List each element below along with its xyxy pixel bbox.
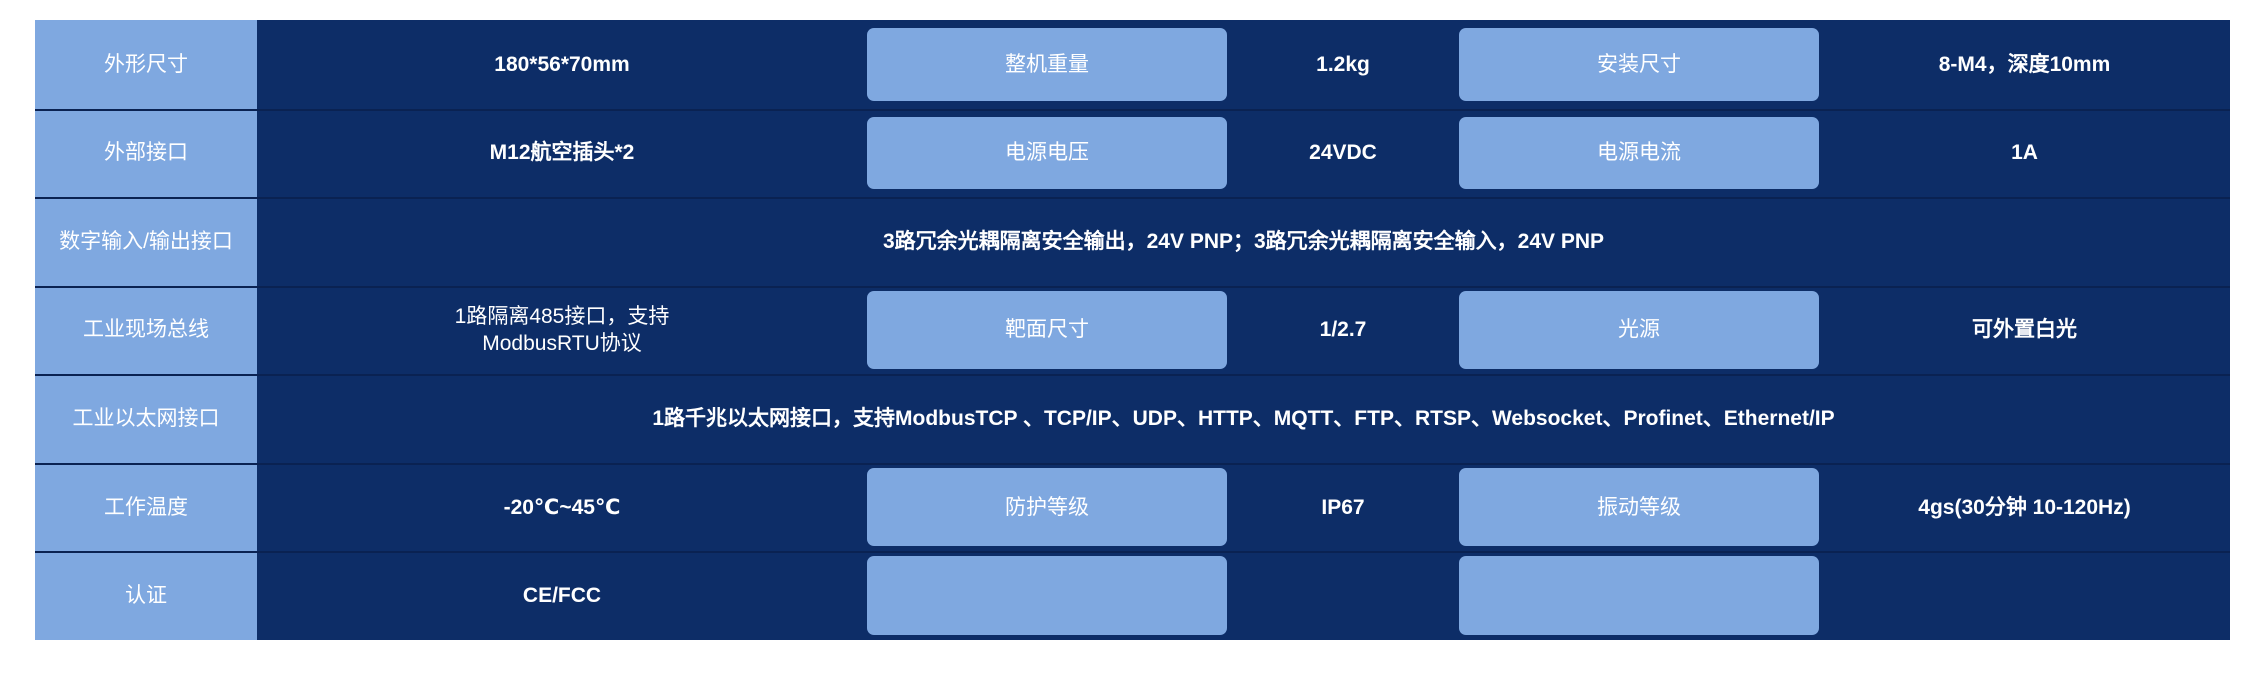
row-value-weight: 1.2kg <box>1227 20 1459 109</box>
row-value-light-source: 可外置白光 <box>1819 286 2230 375</box>
row-label-light-source-text: 光源 <box>1459 291 1819 370</box>
row-label-dimensions: 外形尺寸 <box>35 20 257 109</box>
table-row: 外形尺寸 180*56*70mm 整机重量 1.2kg 安装尺寸 8-M4，深度… <box>35 20 2230 109</box>
row-value-supply-current: 1A <box>1819 109 2230 198</box>
row-label-fieldbus: 工业现场总线 <box>35 286 257 375</box>
table-row: 认证 CE/FCC <box>35 551 2230 640</box>
row-label-empty-1 <box>867 551 1227 640</box>
row-value-empty-1 <box>1227 551 1459 640</box>
row-label-ip-rating: 防护等级 <box>867 463 1227 552</box>
row-value-ip-rating: IP67 <box>1227 463 1459 552</box>
row-label-supply-voltage: 电源电压 <box>867 109 1227 198</box>
row-value-digital-io: 3路冗余光耦隔离安全输出，24V PNP；3路冗余光耦隔离安全输入，24V PN… <box>257 197 2230 286</box>
row-label-mounting: 安装尺寸 <box>1459 20 1819 109</box>
row-label-ip-rating-text: 防护等级 <box>867 468 1227 547</box>
table-row: 工业以太网接口 1路千兆以太网接口，支持ModbusTCP 、TCP/IP、UD… <box>35 374 2230 463</box>
row-label-empty-2-text <box>1459 556 1819 635</box>
row-label-sensor-size: 靶面尺寸 <box>867 286 1227 375</box>
row-value-fieldbus: 1路隔离485接口，支持 ModbusRTU协议 <box>257 286 867 375</box>
row-value-vibration: 4gs(30分钟 10-120Hz) <box>1819 463 2230 552</box>
row-label-mounting-text: 安装尺寸 <box>1459 28 1819 101</box>
row-value-dimensions: 180*56*70mm <box>257 20 867 109</box>
row-label-supply-current-text: 电源电流 <box>1459 117 1819 190</box>
row-value-temperature: -20℃~45℃ <box>257 463 867 552</box>
row-label-empty-1-text <box>867 556 1227 635</box>
table-row: 工业现场总线 1路隔离485接口，支持 ModbusRTU协议 靶面尺寸 1/2… <box>35 286 2230 375</box>
row-value-supply-voltage: 24VDC <box>1227 109 1459 198</box>
row-label-temperature: 工作温度 <box>35 463 257 552</box>
row-label-weight-text: 整机重量 <box>867 28 1227 101</box>
row-label-weight: 整机重量 <box>867 20 1227 109</box>
row-value-certification: CE/FCC <box>257 551 867 640</box>
row-label-supply-voltage-text: 电源电压 <box>867 117 1227 190</box>
row-label-sensor-size-text: 靶面尺寸 <box>867 291 1227 370</box>
table-row: 工作温度 -20℃~45℃ 防护等级 IP67 振动等级 4gs(30分钟 10… <box>35 463 2230 552</box>
row-label-empty-2 <box>1459 551 1819 640</box>
row-label-supply-current: 电源电流 <box>1459 109 1819 198</box>
row-value-sensor-size: 1/2.7 <box>1227 286 1459 375</box>
row-value-empty-2 <box>1819 551 2230 640</box>
row-label-external-interface: 外部接口 <box>35 109 257 198</box>
row-label-ethernet: 工业以太网接口 <box>35 374 257 463</box>
row-value-mounting: 8-M4，深度10mm <box>1819 20 2230 109</box>
row-label-digital-io: 数字输入/输出接口 <box>35 197 257 286</box>
row-value-ethernet: 1路千兆以太网接口，支持ModbusTCP 、TCP/IP、UDP、HTTP、M… <box>257 374 2230 463</box>
table-row: 外部接口 M12航空插头*2 电源电压 24VDC 电源电流 1A <box>35 109 2230 198</box>
row-value-external-interface: M12航空插头*2 <box>257 109 867 198</box>
row-label-vibration-text: 振动等级 <box>1459 468 1819 547</box>
row-label-light-source: 光源 <box>1459 286 1819 375</box>
row-label-vibration: 振动等级 <box>1459 463 1819 552</box>
specification-table: 外形尺寸 180*56*70mm 整机重量 1.2kg 安装尺寸 8-M4，深度… <box>35 20 2230 640</box>
table-row: 数字输入/输出接口 3路冗余光耦隔离安全输出，24V PNP；3路冗余光耦隔离安… <box>35 197 2230 286</box>
row-label-certification: 认证 <box>35 551 257 640</box>
